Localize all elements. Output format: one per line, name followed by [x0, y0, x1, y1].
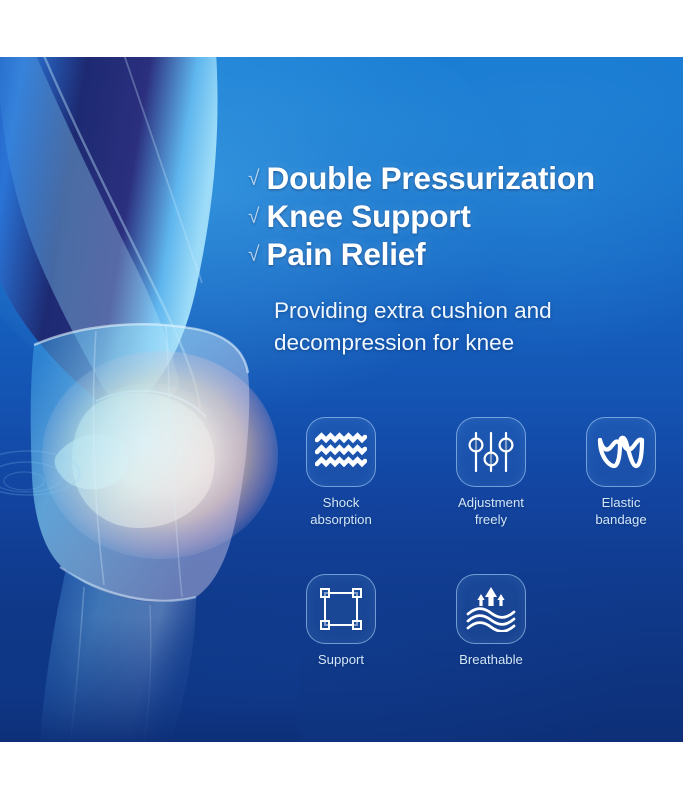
feature-elastic-bandage: Elastic bandage: [566, 417, 676, 528]
spring-coil-icon: [596, 434, 646, 470]
feature-tile: [306, 417, 376, 487]
feature-tile: [456, 417, 526, 487]
feature-label: Support: [318, 652, 364, 669]
feature-tile: [456, 574, 526, 644]
subtitle: Providing extra cushion and decompressio…: [274, 295, 668, 359]
headline-line-1: Double Pressurization: [267, 159, 595, 197]
product-feature-image: √ Double Pressurization √ Knee Support √…: [0, 0, 683, 800]
check-icon: √: [248, 168, 260, 189]
feature-label: Breathable: [459, 652, 523, 669]
corner-brackets-square-icon: [319, 587, 363, 631]
zigzag-waves-icon: [315, 432, 367, 472]
check-icon: √: [248, 244, 260, 265]
headline-item-2: √ Knee Support: [248, 197, 668, 235]
feature-support: Support: [266, 574, 416, 669]
feature-adjustment-freely: Adjustment freely: [416, 417, 566, 528]
feature-tile: [306, 574, 376, 644]
air-flow-waves-icon: [466, 586, 516, 632]
feature-breathable: Breathable: [416, 574, 566, 669]
knee-brace-sleeve: [31, 324, 250, 601]
check-icon: √: [248, 206, 260, 227]
feature-tile: [586, 417, 656, 487]
feature-row-2: Support: [266, 574, 676, 669]
feature-label: Shock absorption: [310, 495, 372, 528]
headline-line-3: Pain Relief: [267, 235, 426, 273]
feature-shock-absorption: Shock absorption: [266, 417, 416, 528]
headline-line-2: Knee Support: [267, 197, 471, 235]
feature-row-1: Shock absorption: [266, 417, 676, 528]
copy-block: √ Double Pressurization √ Knee Support √…: [248, 159, 668, 359]
feature-label: Adjustment freely: [458, 495, 524, 528]
headline-item-1: √ Double Pressurization: [248, 159, 668, 197]
headline-item-3: √ Pain Relief: [248, 235, 668, 273]
feature-label: Elastic bandage: [595, 495, 646, 528]
feature-icon-grid: Shock absorption: [266, 417, 676, 669]
lower-fade-overlay: [0, 617, 300, 742]
sliders-icon: [468, 430, 514, 474]
artwork-plate: √ Double Pressurization √ Knee Support √…: [0, 57, 683, 742]
